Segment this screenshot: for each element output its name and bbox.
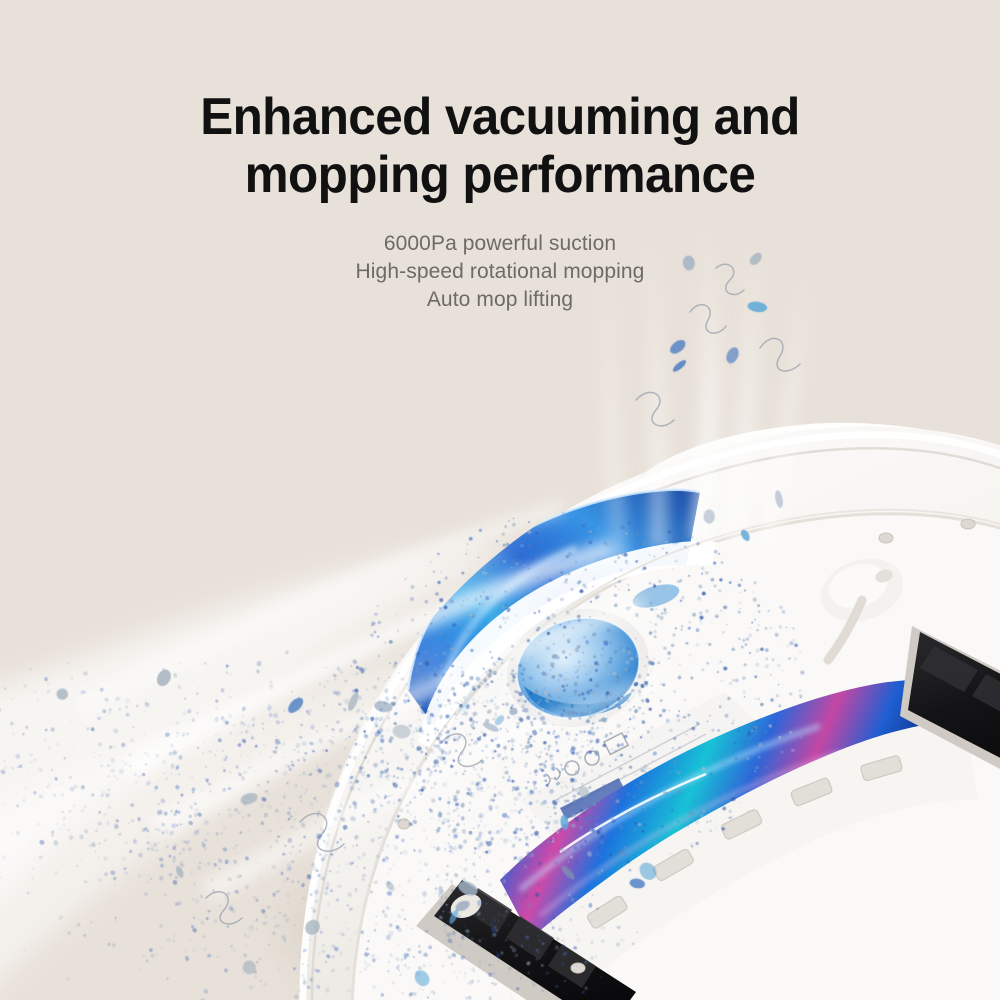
product-feature-banner: Enhanced vacuuming and mopping performan… [0, 0, 1000, 1000]
airflow-and-dust-effects [0, 0, 1000, 1000]
dust-particle-field [0, 0, 1000, 1000]
